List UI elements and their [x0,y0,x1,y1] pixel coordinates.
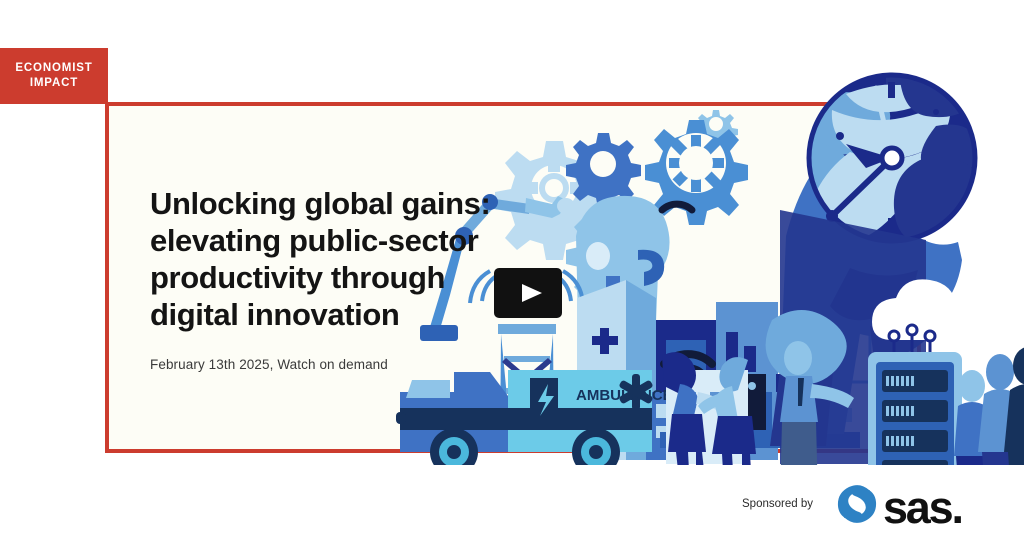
server-unit [882,460,948,465]
sas-logo[interactable]: sas. [831,478,962,530]
crowd-person [954,370,992,465]
sas-wordmark: sas. [883,486,962,530]
title-line-1: Unlocking global gains: [150,186,490,221]
crowd-person [978,354,1022,465]
crowd-person [1004,347,1024,465]
sponsor-block: Sponsored by sas. [742,478,962,530]
crowd-silhouettes [954,347,1024,465]
title-line-4: digital innovation [150,297,399,332]
title-line-3: productivity through [150,260,445,295]
logo-line-impact: IMPACT [30,76,78,91]
economist-impact-logo[interactable]: ECONOMIST IMPACT [0,48,108,104]
page-title: Unlocking global gains: elevating public… [150,185,510,333]
hero-text-block: Unlocking global gains: elevating public… [150,185,510,372]
title-line-2: elevating public-sector [150,223,478,258]
logo-line-economist: ECONOMIST [15,61,92,76]
event-date-and-availability: February 13th 2025, Watch on demand [150,357,510,372]
sas-swirl-icon [831,478,883,530]
sponsored-by-label: Sponsored by [742,498,813,510]
